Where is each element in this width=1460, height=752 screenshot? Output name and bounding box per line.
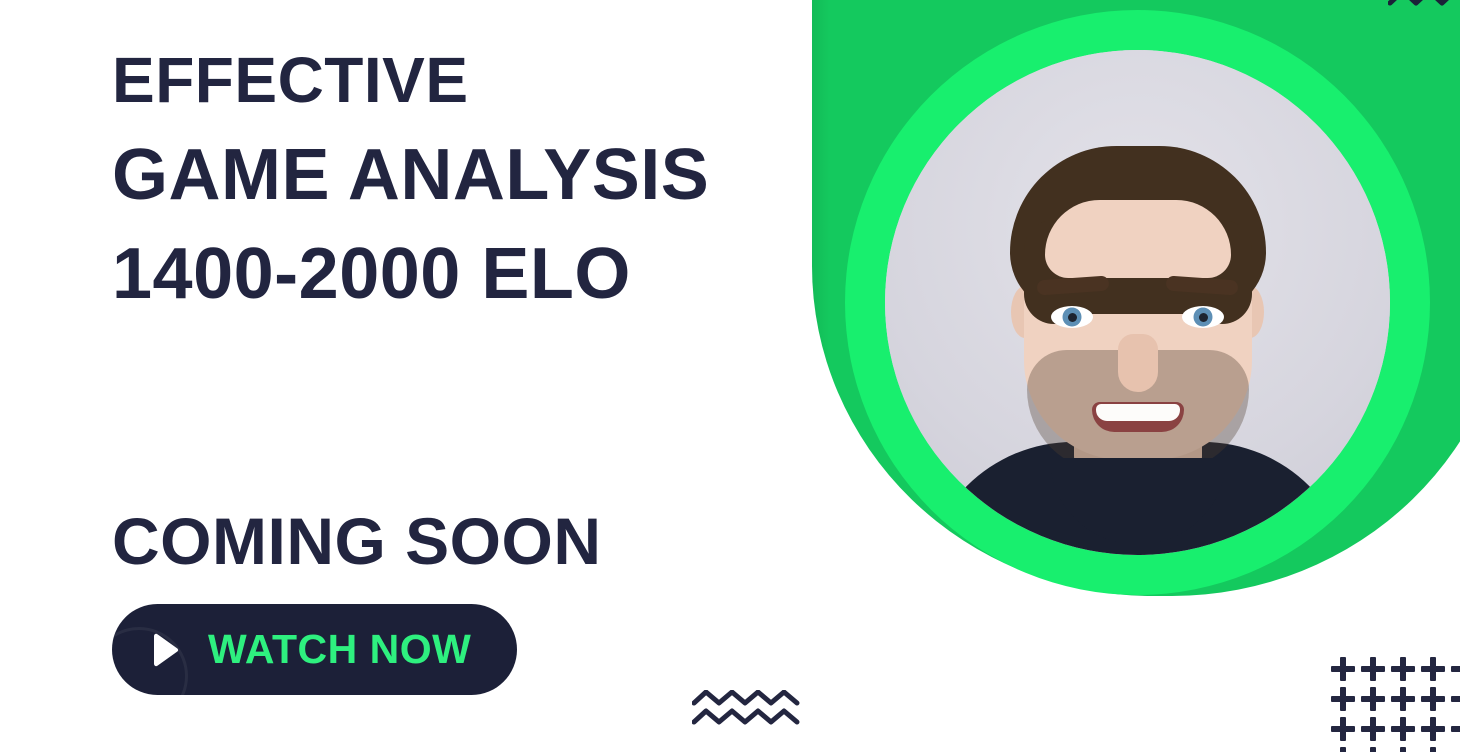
page-title: EFFECTIVE GAME ANALYSIS 1400-2000 ELO [112,48,802,310]
headline-line-3: 1400-2000 ELO [112,238,802,310]
plus-icon [1390,686,1416,712]
plus-icon [1360,746,1386,752]
plus-icon [1450,656,1460,682]
avatar [885,50,1390,555]
plus-icon [1330,656,1356,682]
zigzag-icon [1388,0,1460,6]
plus-icon [1330,716,1356,742]
plus-icon [1390,716,1416,742]
plus-icon [1420,656,1446,682]
avatar-ring [845,10,1430,595]
play-icon [150,633,180,667]
zigzag-icon [692,690,800,725]
plus-icon [1360,716,1386,742]
plus-icon [1450,746,1460,752]
plus-icon [1330,746,1356,752]
plus-pattern-icon [1330,656,1460,752]
plus-icon [1420,716,1446,742]
headline-line-1: EFFECTIVE [112,48,802,112]
plus-icon [1450,716,1460,742]
headline-line-2: GAME ANALYSIS [112,139,802,211]
status-badge: COMING SOON [112,508,602,574]
plus-icon [1420,746,1446,752]
plus-icon [1330,686,1356,712]
promo-banner: EFFECTIVE GAME ANALYSIS 1400-2000 ELO CO… [0,0,1460,752]
plus-icon [1420,686,1446,712]
plus-icon [1390,746,1416,752]
watch-now-label: WATCH NOW [208,626,471,673]
plus-icon [1390,656,1416,682]
plus-icon [1360,656,1386,682]
watch-now-button[interactable]: WATCH NOW [112,604,517,695]
plus-icon [1360,686,1386,712]
plus-icon [1450,686,1460,712]
